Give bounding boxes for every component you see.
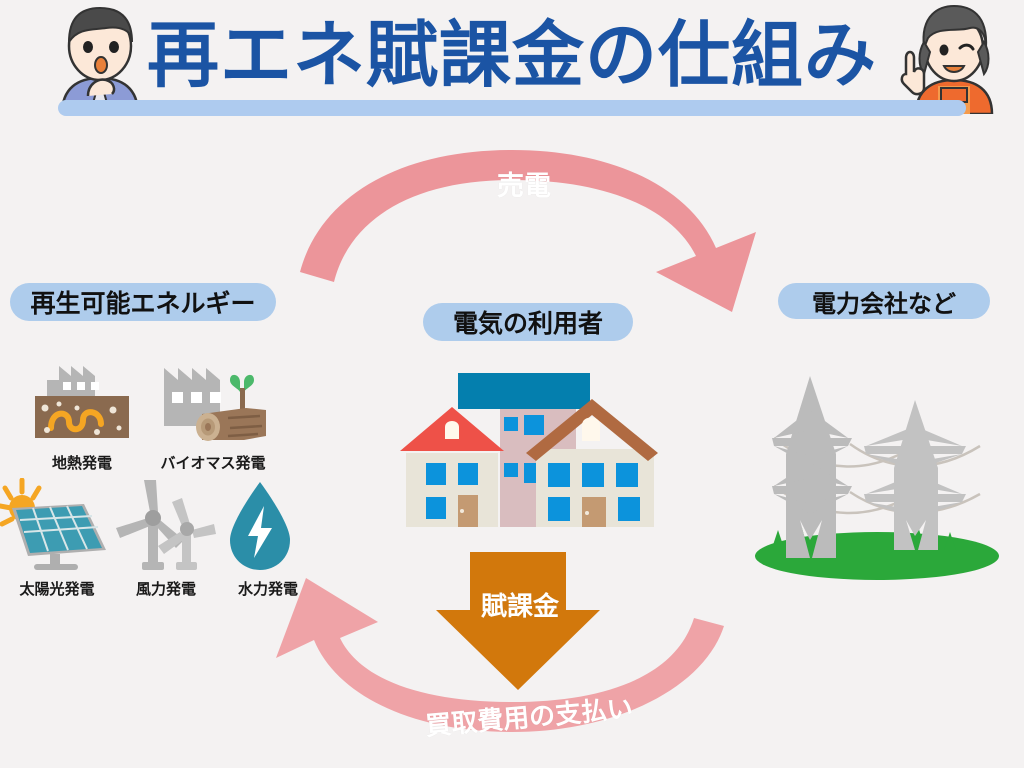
energy-item-wind: 風力発電 xyxy=(110,478,222,599)
power-company-badge: 電力会社など xyxy=(778,283,990,319)
energy-label-biomass: バイオマス発電 xyxy=(148,452,278,473)
solar-icon xyxy=(0,478,116,574)
energy-item-solar: 太陽光発電 xyxy=(0,478,116,599)
levy-label: 賦課金 xyxy=(481,586,559,623)
energy-label-wind: 風力発電 xyxy=(110,578,222,599)
geothermal-icon xyxy=(27,352,137,448)
renewable-energy-badge: 再生可能エネルギー xyxy=(10,283,276,321)
energy-label-solar: 太陽光発電 xyxy=(0,578,116,599)
electricity-user-badge: 電気の利用者 xyxy=(423,303,633,341)
energy-item-hydro: 水力発電 xyxy=(212,478,324,599)
energy-item-geothermal: 地熱発電 xyxy=(22,352,142,473)
sell-electricity-label: 売電 xyxy=(497,164,551,203)
energy-item-biomass: バイオマス発電 xyxy=(148,352,278,473)
energy-label-geothermal: 地熱発電 xyxy=(22,452,142,473)
biomass-icon xyxy=(148,352,278,448)
wind-icon xyxy=(110,478,222,574)
houses-icon xyxy=(396,355,666,550)
energy-label-hydro: 水力発電 xyxy=(212,578,324,599)
hydro-icon xyxy=(212,478,324,574)
transmission-towers-icon xyxy=(752,370,1002,580)
infographic-canvas: 再エネ賦課金の仕組み 売電 賦 xyxy=(0,0,1024,768)
